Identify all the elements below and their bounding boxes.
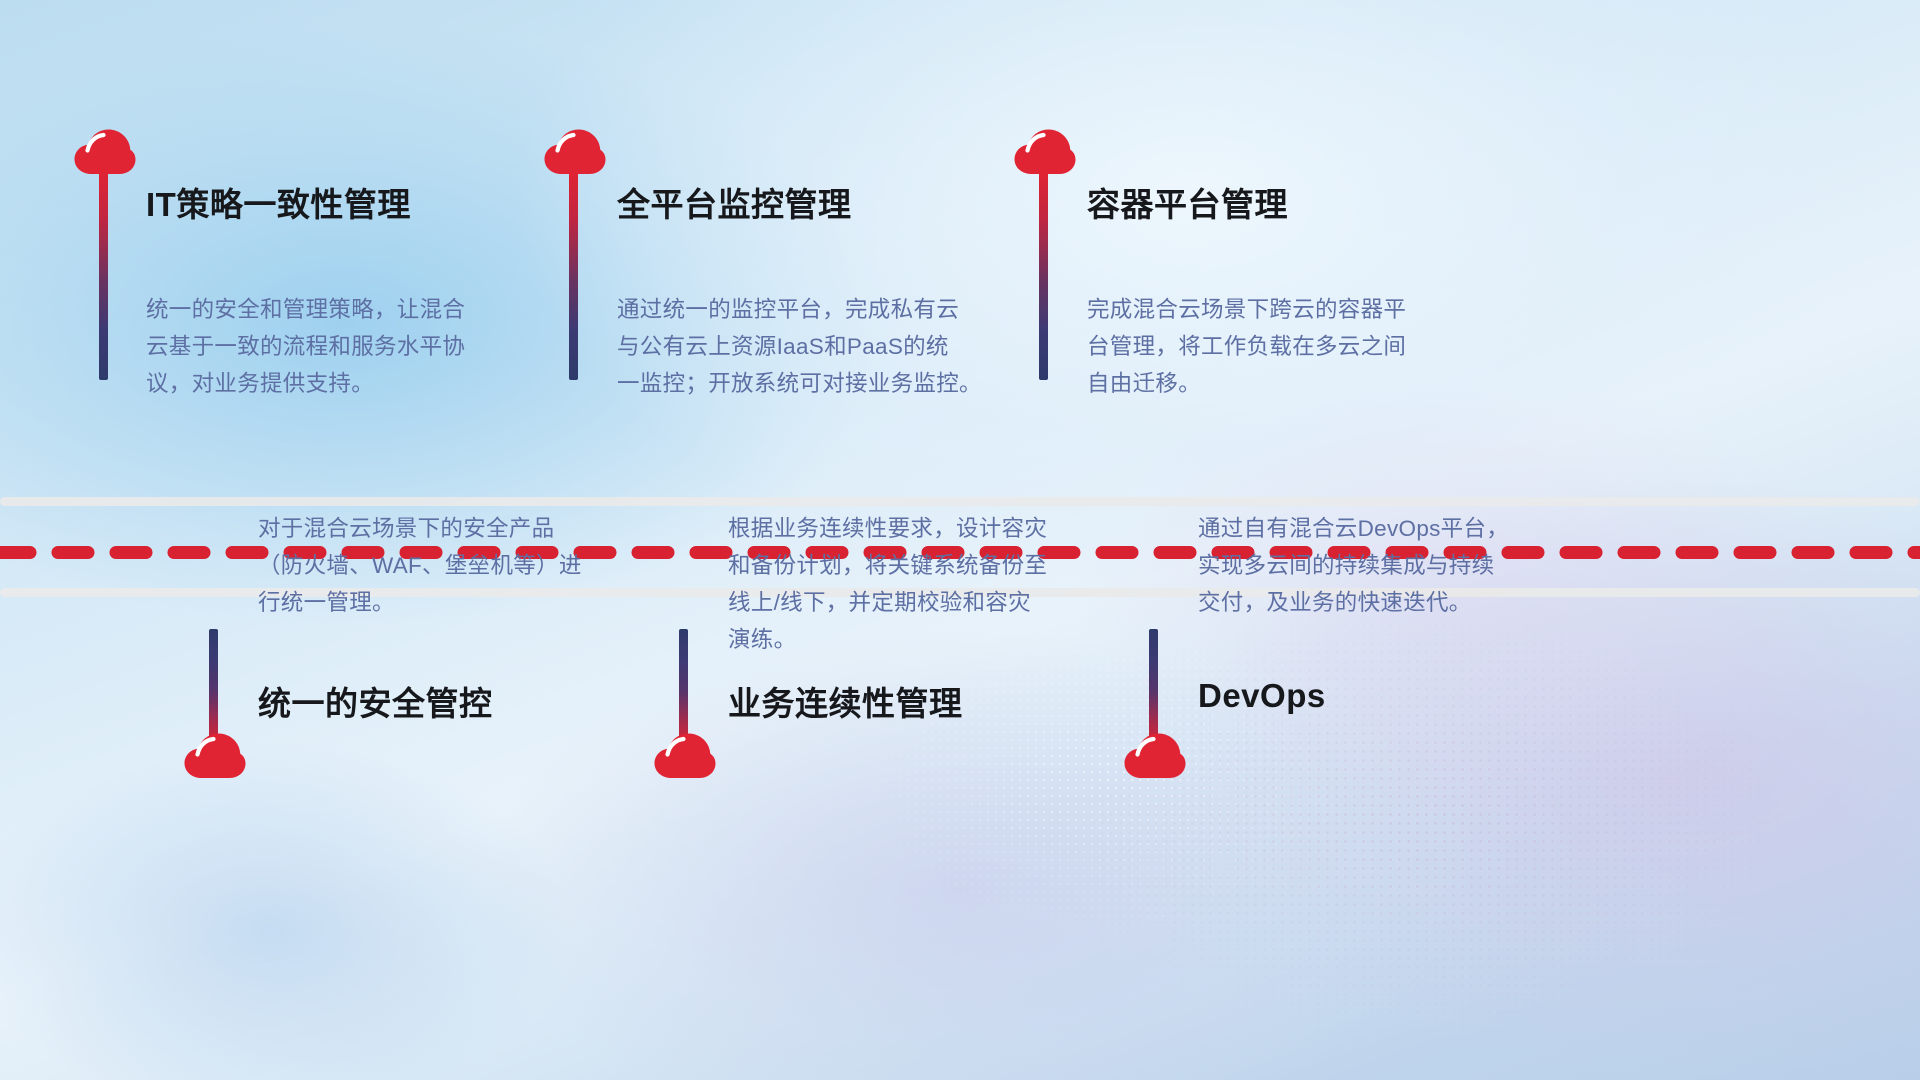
cloud-icon [74, 129, 136, 175]
body-line: 交付，及业务的快速迭代。 [1198, 584, 1598, 621]
connector-bar [1149, 629, 1158, 747]
body-line: 完成混合云场景下跨云的容器平 [1087, 291, 1487, 328]
body-line: 行统一管理。 [258, 584, 658, 621]
body-line: （防火墙、WAF、堡垒机等）进 [258, 547, 658, 584]
card-body: 对于混合云场景下的安全产品 （防火墙、WAF、堡垒机等）进 行统一管理。 [258, 510, 658, 621]
card-heading: DevOps [1198, 677, 1326, 715]
card-body: 通过自有混合云DevOps平台， 实现多云间的持续集成与持续 交付，及业务的快速… [1198, 510, 1598, 621]
cloud-icon [544, 129, 606, 175]
card-heading: 业务连续性管理 [728, 677, 963, 725]
card-body: 通过统一的监控平台，完成私有云 与公有云上资源IaaS和PaaS的统 一监控；开… [617, 291, 1017, 402]
body-line: 与公有云上资源IaaS和PaaS的统 [617, 328, 1017, 365]
cloud-icon [1124, 733, 1186, 779]
card-heading: 容器平台管理 [1087, 178, 1288, 226]
body-line: 自由迁移。 [1087, 365, 1487, 402]
body-line: 云基于一致的流程和服务水平协 [146, 328, 546, 365]
body-line: 根据业务连续性要求，设计容灾 [728, 510, 1128, 547]
body-line: 通过统一的监控平台，完成私有云 [617, 291, 1017, 328]
body-line: 议，对业务提供支持。 [146, 365, 546, 402]
divider-rail-top [0, 497, 1920, 506]
card-heading: 全平台监控管理 [617, 178, 852, 226]
body-line: 对于混合云场景下的安全产品 [258, 510, 658, 547]
body-line: 实现多云间的持续集成与持续 [1198, 547, 1598, 584]
connector-bar [569, 172, 578, 380]
connector-bar [209, 629, 218, 747]
body-line: 通过自有混合云DevOps平台， [1198, 510, 1598, 547]
cloud-icon [654, 733, 716, 779]
card-heading: 统一的安全管控 [258, 677, 493, 725]
body-line: 和备份计划，将关键系统备份至 [728, 547, 1128, 584]
body-line: 统一的安全和管理策略，让混合 [146, 291, 546, 328]
body-line: 演练。 [728, 621, 1128, 658]
body-line: 台管理，将工作负载在多云之间 [1087, 328, 1487, 365]
card-body: 完成混合云场景下跨云的容器平 台管理，将工作负载在多云之间 自由迁移。 [1087, 291, 1487, 402]
connector-bar [679, 629, 688, 747]
card-heading: IT策略一致性管理 [146, 178, 411, 226]
card-body: 根据业务连续性要求，设计容灾 和备份计划，将关键系统备份至 线上/线下，并定期校… [728, 510, 1128, 658]
cloud-icon [184, 733, 246, 779]
connector-bar [99, 172, 108, 380]
card-body: 统一的安全和管理策略，让混合 云基于一致的流程和服务水平协 议，对业务提供支持。 [146, 291, 546, 402]
body-line: 一监控；开放系统可对接业务监控。 [617, 365, 1017, 402]
body-line: 线上/线下，并定期校验和容灾 [728, 584, 1128, 621]
cloud-icon [1014, 129, 1076, 175]
connector-bar [1039, 172, 1048, 380]
